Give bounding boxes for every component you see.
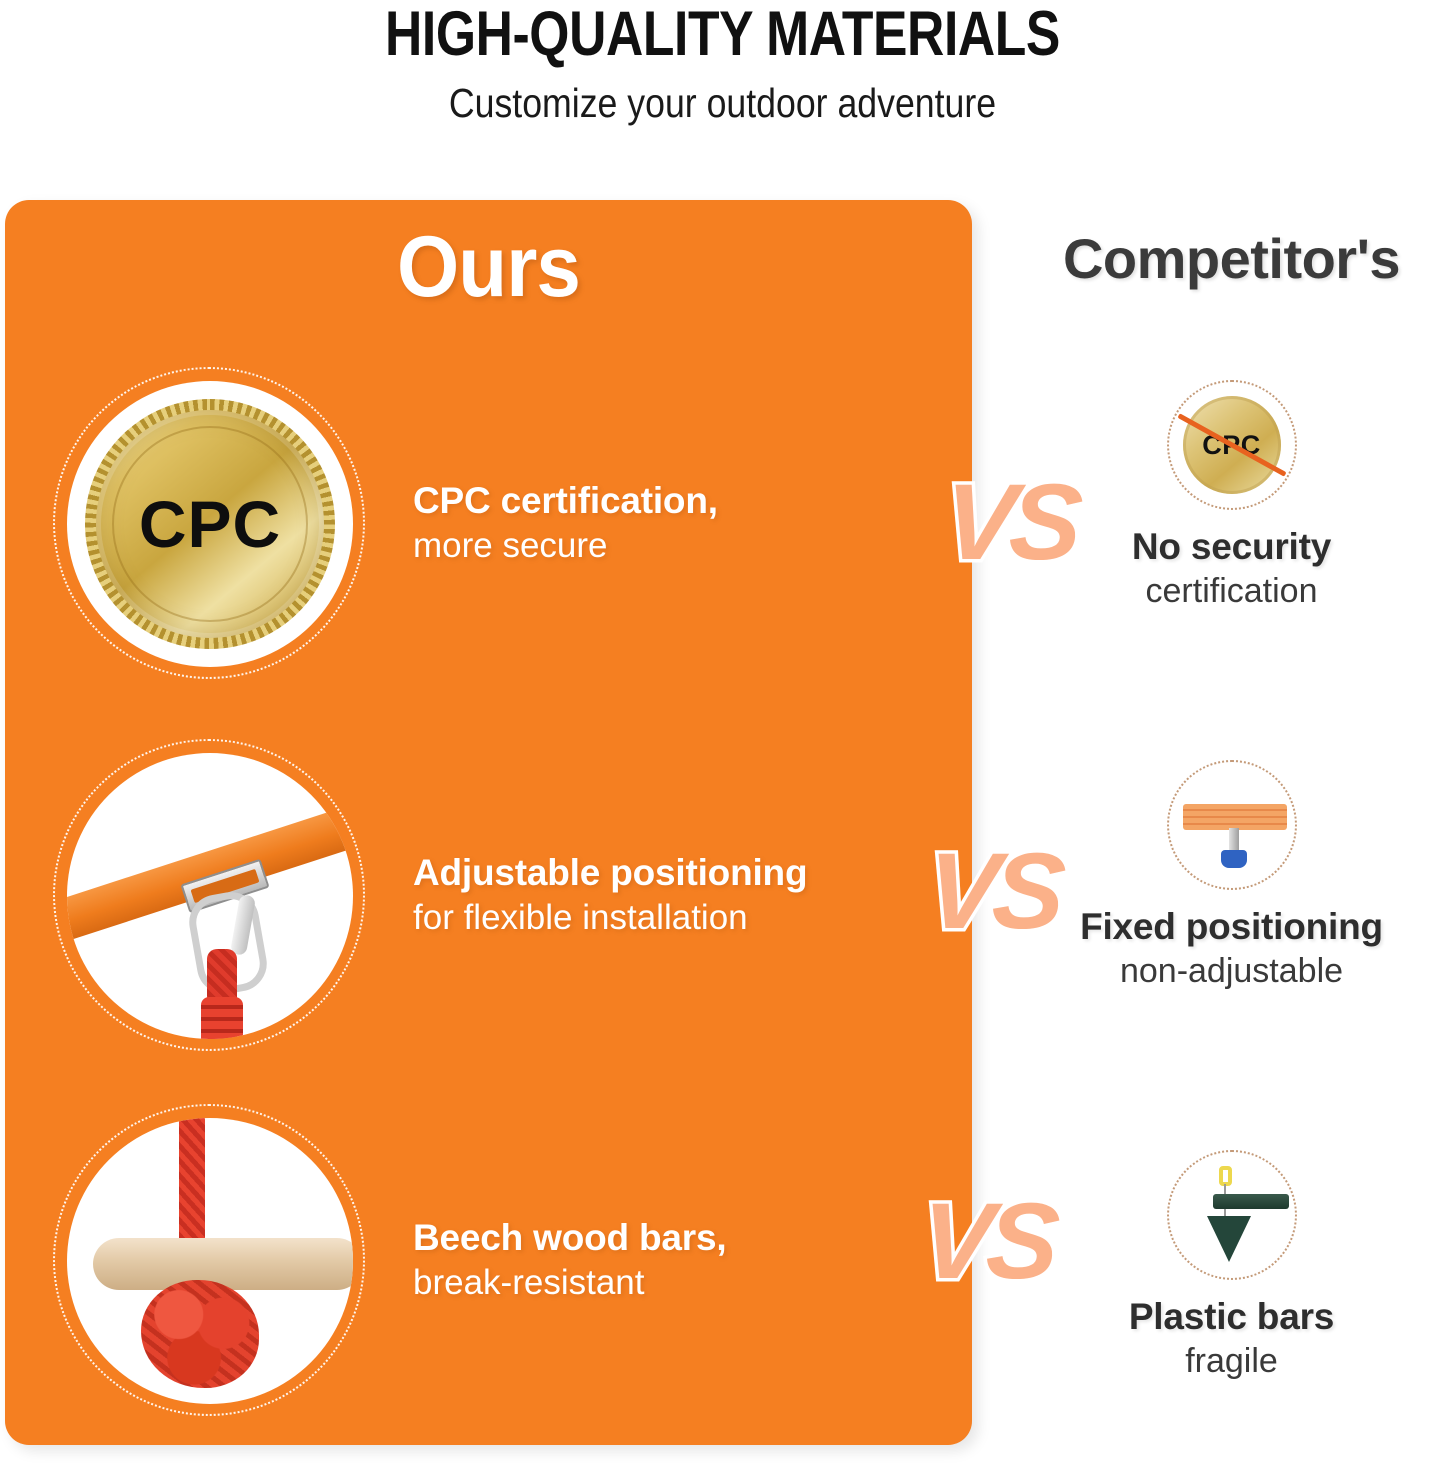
- vs-badge-3: VS: [917, 1178, 1058, 1303]
- rope-knot-icon: [141, 1280, 259, 1388]
- ours-feature-headline: Beech wood bars,: [413, 1217, 726, 1259]
- rope-grip-icon: [201, 997, 243, 1039]
- fixed-strap-hook-icon: [1167, 760, 1297, 890]
- competitor-feature-headline: Fixed positioning: [1018, 906, 1445, 948]
- competitor-feature-fixed-positioning: Fixed positioning non-adjustable: [1018, 760, 1445, 991]
- ours-panel-title: Ours: [39, 218, 938, 317]
- strap-icon: [1183, 804, 1287, 830]
- photo-disc: [67, 1118, 353, 1404]
- green-bar-icon: [1213, 1194, 1289, 1209]
- photo-disc: [67, 753, 353, 1039]
- ours-feature-text-wood: Beech wood bars, break-resistant: [413, 1217, 726, 1303]
- ours-feature-row-wood: Beech wood bars, break-resistant: [5, 1095, 972, 1425]
- page-title: HIGH-QUALITY MATERIALS: [130, 0, 1315, 66]
- plastic-triangle-icon: [1207, 1216, 1251, 1262]
- header: HIGH-QUALITY MATERIALS Customize your ou…: [0, 0, 1445, 127]
- competitor-feature-headline: No security: [1018, 526, 1445, 568]
- plastic-bar-icon: [1167, 1150, 1297, 1280]
- photo-disc: CPC: [67, 381, 353, 667]
- ours-feature-text-adjustable: Adjustable positioning for flexible inst…: [413, 852, 807, 938]
- competitor-feature-headline: Plastic bars: [1018, 1296, 1445, 1338]
- page-subtitle: Customize your outdoor adventure: [94, 66, 1351, 127]
- red-rope-icon: [179, 1118, 205, 1246]
- ours-feature-row-cpc: CPC CPC certification, more secure: [5, 358, 972, 688]
- beech-wood-bar-photo: [53, 1104, 365, 1416]
- seal-face: CPC: [96, 410, 324, 638]
- vs-badge-2: VS: [923, 828, 1064, 953]
- competitor-feature-subtext: non-adjustable: [1018, 952, 1445, 991]
- crossed-cpc-coin-icon: CPC: [1167, 380, 1297, 510]
- gold-seal: CPC: [85, 399, 335, 649]
- ours-feature-subtext: more secure: [413, 526, 718, 566]
- strap-carabiner-photo: [53, 739, 365, 1051]
- cpc-gold-seal-icon: CPC: [53, 367, 365, 679]
- competitor-feature-subtext: certification: [1018, 572, 1445, 611]
- competitor-feature-subtext: fragile: [1018, 1342, 1445, 1381]
- hook-blue-icon: [1221, 850, 1247, 868]
- ours-feature-text-cpc: CPC certification, more secure: [413, 480, 718, 566]
- ours-feature-subtext: break-resistant: [413, 1263, 726, 1303]
- ours-feature-row-adjustable: Adjustable positioning for flexible inst…: [5, 730, 972, 1060]
- ours-feature-subtext: for flexible installation: [413, 898, 807, 938]
- vs-badge-1: VS: [940, 459, 1081, 584]
- competitor-feature-no-certification: CPC No security certification: [1018, 380, 1445, 611]
- yellow-clip-icon: [1219, 1166, 1232, 1186]
- strap-scene: [67, 753, 353, 1039]
- seal-label: CPC: [139, 486, 281, 562]
- ours-panel: Ours CPC CPC certification, more secure: [5, 200, 972, 1445]
- ours-feature-headline: Adjustable positioning: [413, 852, 807, 894]
- competitor-feature-plastic-bars: Plastic bars fragile: [1018, 1150, 1445, 1381]
- wood-scene: [67, 1118, 353, 1404]
- beech-wood-bar-icon: [93, 1238, 353, 1290]
- competitor-column-title: Competitor's: [1018, 226, 1445, 291]
- ours-feature-headline: CPC certification,: [413, 480, 718, 522]
